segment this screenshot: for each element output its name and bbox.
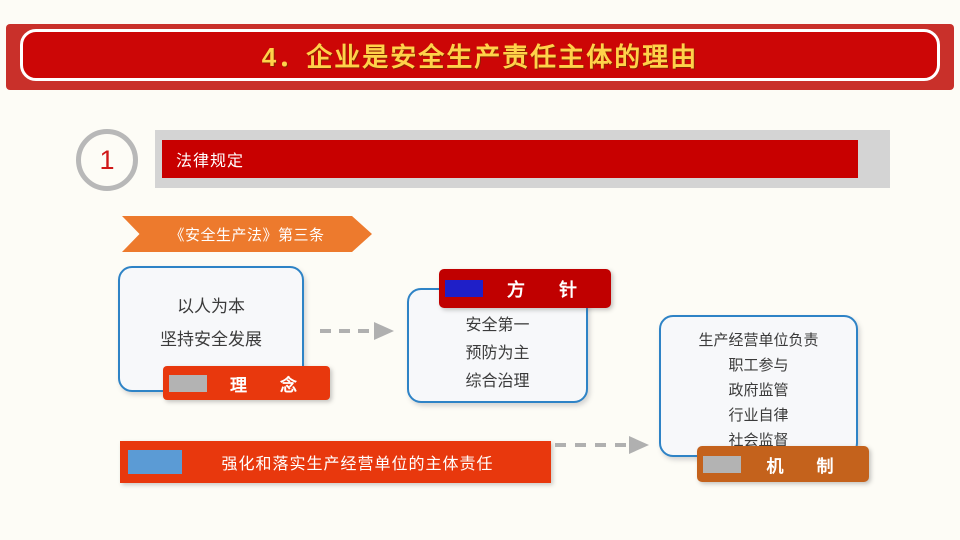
mechanism-line-2: 职工参与 [661,353,856,378]
responsibility-bar: 强化和落实生产经营单位的主体责任 [120,441,551,483]
source-chevron-banner: 《安全生产法》第三条 [122,216,372,252]
dashed-arrow-right-icon [553,432,653,458]
mechanism-chip: 机 制 [697,446,869,482]
concept-line-1: 以人为本 [120,290,302,323]
mechanism-line-1: 生产经营单位负责 [661,328,856,353]
concept-chip-swatch-icon [169,375,207,392]
mechanism-box: 生产经营单位负责 职工参与 政府监管 行业自律 社会监督 [659,315,858,457]
policy-line-2: 预防为主 [409,340,586,368]
title-banner: 4．企业是安全生产责任主体的理由 [20,29,940,81]
page-title: 4．企业是安全生产责任主体的理由 [262,37,698,74]
policy-chip-label: 方 针 [483,276,611,302]
source-banner-label: 《安全生产法》第三条 [169,224,324,245]
mechanism-chip-swatch-icon [703,456,741,473]
responsibility-bar-swatch-icon [128,450,182,474]
concept-box-lines: 以人为本 坚持安全发展 [120,290,302,356]
section-heading-bar: 法律规定 [162,140,858,178]
concept-line-2: 坚持安全发展 [120,323,302,356]
dashed-arrow-right-icon [318,318,398,344]
mechanism-chip-label: 机 制 [741,452,869,477]
concept-chip: 理 念 [163,366,330,400]
mechanism-box-lines: 生产经营单位负责 职工参与 政府监管 行业自律 社会监督 [661,328,856,453]
policy-box-lines: 安全第一 预防为主 综合治理 [409,312,586,396]
concept-chip-label: 理 念 [207,371,330,396]
responsibility-bar-label: 强化和落实生产经营单位的主体责任 [182,450,551,474]
section-heading-label: 法律规定 [176,147,244,171]
mechanism-line-3: 政府监管 [661,378,856,403]
mechanism-line-4: 行业自律 [661,403,856,428]
title-banner-outer: 4．企业是安全生产责任主体的理由 [6,24,954,90]
policy-chip-swatch-icon [445,280,483,297]
policy-chip: 方 针 [439,269,611,308]
section-number-label: 1 [99,147,114,174]
slide-canvas: 4．企业是安全生产责任主体的理由 1 法律规定 《安全生产法》第三条 以人为本 … [0,0,960,540]
policy-line-1: 安全第一 [409,312,586,340]
section-number-badge: 1 [76,129,138,191]
policy-line-3: 综合治理 [409,368,586,396]
